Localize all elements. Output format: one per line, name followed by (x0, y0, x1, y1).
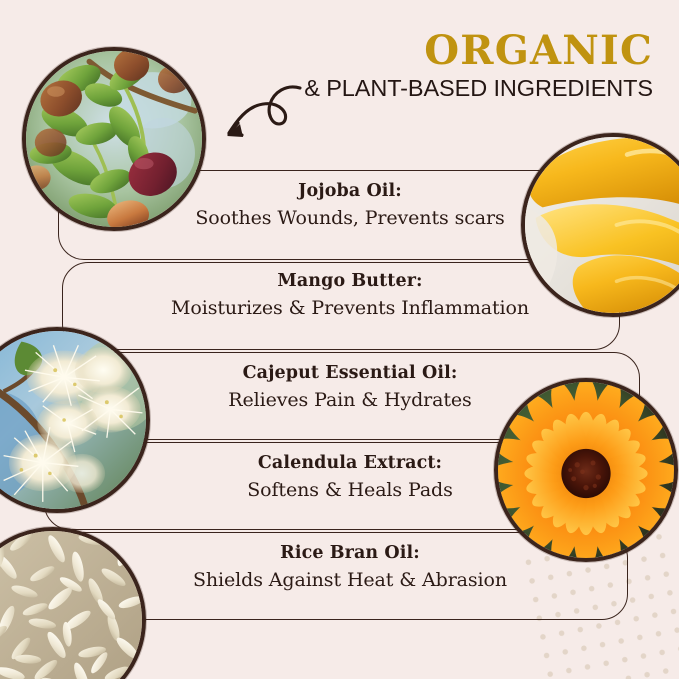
ingredient-desc-calendula: Softens & Heals Pads (180, 478, 520, 503)
ingredient-title-jojoba: Jojoba Oil: (170, 180, 530, 204)
ingredient-text-calendula: Calendula Extract: Softens & Heals Pads (180, 452, 520, 502)
calendula-flower-photo (494, 378, 678, 562)
ingredient-text-mango: Mango Butter: Moisturizes & Prevents Inf… (140, 270, 560, 320)
page-title: ORGANIC (233, 30, 653, 72)
ingredient-desc-cajeput: Relieves Pain & Hydrates (170, 388, 530, 413)
curly-arrow-icon (216, 78, 308, 150)
ingredient-title-cajeput: Cajeput Essential Oil: (170, 362, 530, 386)
ingredient-title-mango: Mango Butter: (140, 270, 560, 294)
ingredient-text-jojoba: Jojoba Oil: Soothes Wounds, Prevents sca… (170, 180, 530, 230)
cajeput-flower-photo (0, 327, 150, 513)
ingredient-desc-mango: Moisturizes & Prevents Inflammation (140, 296, 560, 321)
rice-grains-photo (0, 527, 146, 679)
ingredient-desc-jojoba: Soothes Wounds, Prevents scars (170, 206, 530, 231)
jojoba-berries-photo (22, 47, 206, 231)
ingredient-text-cajeput: Cajeput Essential Oil: Relieves Pain & H… (170, 362, 530, 412)
ingredient-title-rice: Rice Bran Oil: (150, 542, 550, 566)
infographic-canvas: ORGANIC & PLANT-BASED INGREDIENTS Jojoba… (0, 0, 679, 679)
ingredient-text-rice: Rice Bran Oil: Shields Against Heat & Ab… (150, 542, 550, 592)
ingredient-desc-rice: Shields Against Heat & Abrasion (150, 568, 550, 593)
ingredient-title-calendula: Calendula Extract: (180, 452, 520, 476)
